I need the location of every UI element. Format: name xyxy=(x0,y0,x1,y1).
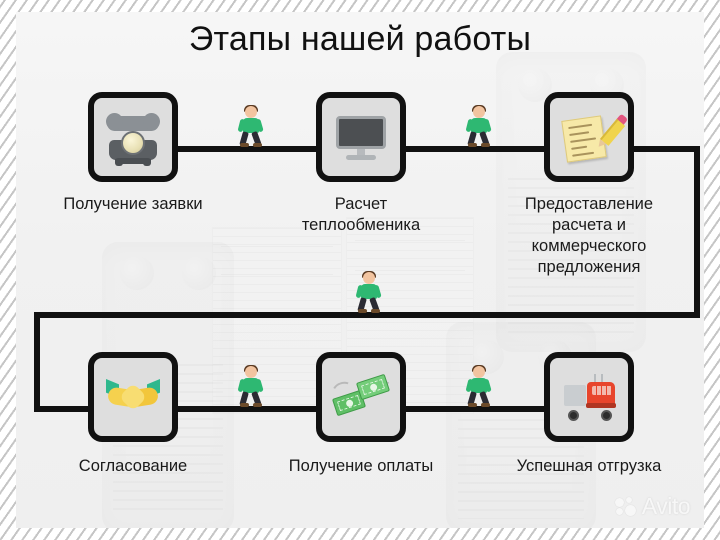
step-box-5-money[interactable] xyxy=(316,352,406,442)
step-box-4-handshake[interactable] xyxy=(88,352,178,442)
avito-logo-icon xyxy=(615,497,637,517)
step-label-6: Успешная отгрузка xyxy=(488,456,690,477)
connector-step1-step2 xyxy=(178,146,324,152)
step-label-3: Предоставление расчета и коммерческого п… xyxy=(494,194,684,278)
telephone-icon xyxy=(106,110,160,164)
delivery-truck-icon xyxy=(562,370,616,424)
walking-person-icon-1 xyxy=(238,106,264,146)
walking-person-icon-5 xyxy=(466,366,492,406)
memo-pencil-icon xyxy=(562,110,616,164)
walking-person-icon-3 xyxy=(356,272,382,312)
connector-left-to-step4 xyxy=(34,406,96,412)
connector-step5-step6 xyxy=(406,406,550,412)
step-box-6-truck[interactable] xyxy=(544,352,634,442)
connector-step2-step3 xyxy=(406,146,550,152)
step-box-2-monitor[interactable] xyxy=(316,92,406,182)
step-label-5: Получение оплаты xyxy=(260,456,462,477)
handshake-icon xyxy=(106,370,160,424)
slide-canvas: Этапы нашей работы xyxy=(16,12,704,528)
connector-right-vertical xyxy=(694,146,700,318)
connector-bottom-crossover xyxy=(34,312,700,318)
connector-step4-step5 xyxy=(178,406,324,412)
screenshot-root: Этапы нашей работы xyxy=(0,0,720,540)
walking-person-icon-4 xyxy=(238,366,264,406)
step-label-2: Расчет теплообменика xyxy=(268,194,454,236)
monitor-icon xyxy=(334,110,388,164)
money-with-wings-icon xyxy=(334,370,388,424)
step-label-4: Согласование xyxy=(52,456,214,477)
connector-step3-right xyxy=(628,146,700,152)
avito-watermark: Avito xyxy=(615,493,690,520)
avito-wordmark: Avito xyxy=(642,493,690,520)
walking-person-icon-2 xyxy=(466,106,492,146)
page-title: Этапы нашей работы xyxy=(16,20,704,59)
step-box-1-telephone[interactable] xyxy=(88,92,178,182)
connector-left-vertical xyxy=(34,312,40,412)
step-box-3-memo[interactable] xyxy=(544,92,634,182)
step-label-1: Получение заявки xyxy=(28,194,238,215)
